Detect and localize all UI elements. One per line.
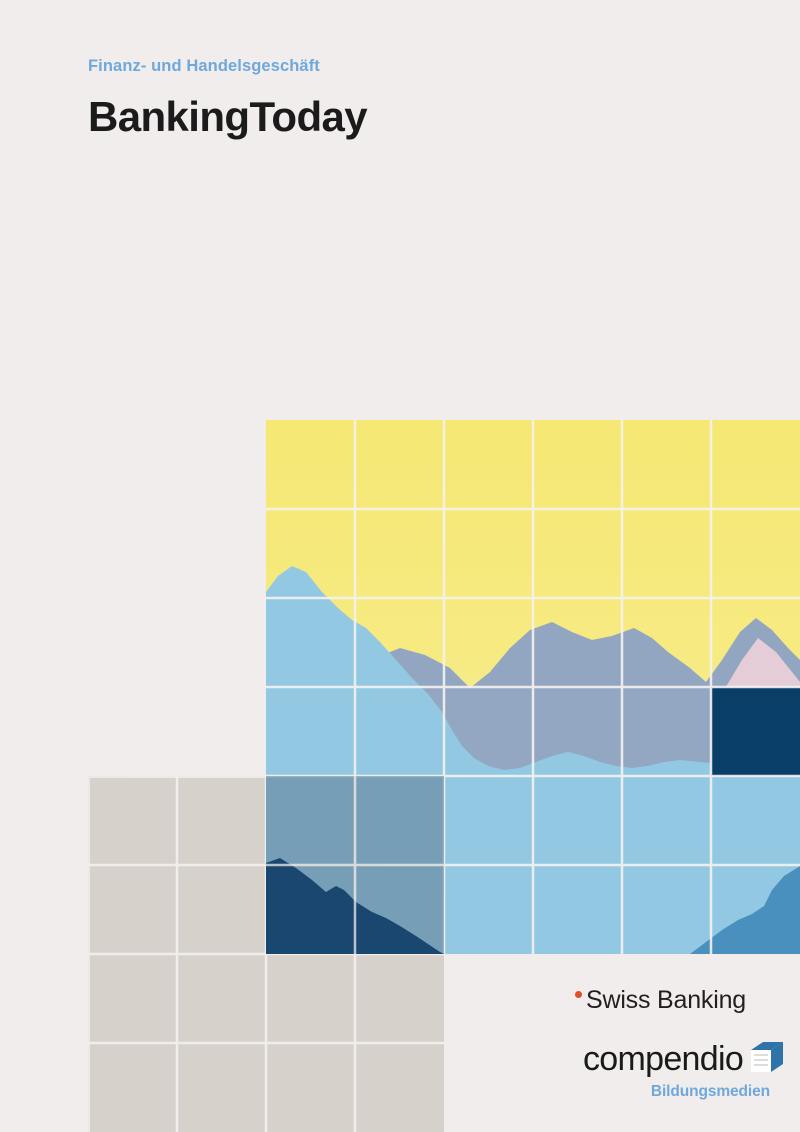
swiss-banking-label: Swiss Banking: [586, 988, 746, 1013]
compendio-wordmark-row: compendio: [583, 1040, 784, 1078]
swiss-banking-dot-icon: [575, 991, 582, 998]
compendio-wordmark: compendio: [583, 1042, 743, 1076]
compendio-cube-icon: [750, 1040, 784, 1072]
book-cover: Finanz- und Handelsgeschäft BankingToday…: [0, 0, 800, 1132]
navy-cell: [711, 687, 800, 776]
swiss-banking-logo: Swiss Banking: [575, 988, 746, 1013]
cover-artwork: [0, 0, 800, 1132]
grid-overlap-region: [266, 776, 444, 954]
cover-title: BankingToday: [88, 93, 367, 141]
compendio-tagline: Bildungsmedien: [583, 1083, 784, 1101]
compendio-logo: compendio Bildungsmedien: [583, 1040, 784, 1101]
cover-subtitle: Finanz- und Handelsgeschäft: [88, 57, 320, 76]
